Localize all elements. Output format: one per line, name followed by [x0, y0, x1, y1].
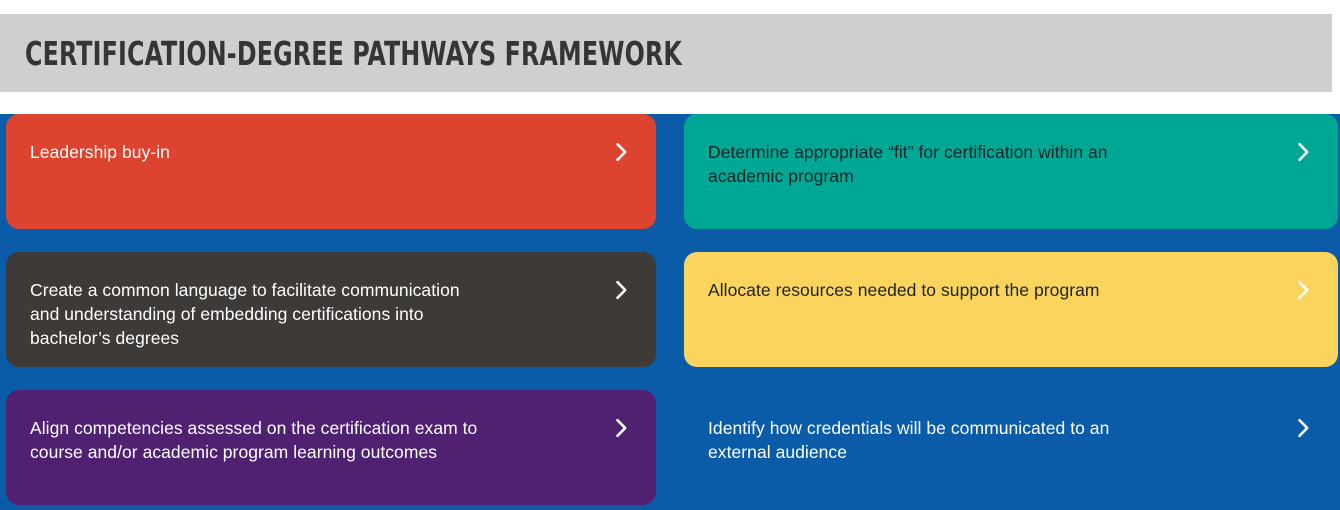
framework-page: Certification-Degree Pathways Framework … [0, 0, 1340, 510]
chevron-right-icon[interactable] [1295, 417, 1312, 439]
chevron-right-icon[interactable] [1295, 279, 1312, 301]
card-content: Align competencies assessed on the certi… [30, 416, 632, 464]
page-title: Certification-Degree Pathways Framework [25, 37, 682, 70]
pathway-card-leadership-buy-in[interactable]: Leadership buy-in [6, 114, 656, 229]
chevron-right-icon[interactable] [613, 141, 630, 163]
card-label: Allocate resources needed to support the… [708, 278, 1268, 302]
pathway-card-align-competencies[interactable]: Align competencies assessed on the certi… [6, 390, 656, 505]
chevron-right-icon[interactable] [1295, 141, 1312, 163]
pathway-card-identify-credentials[interactable]: Identify how credentials will be communi… [684, 390, 1338, 505]
page-header: Certification-Degree Pathways Framework [0, 14, 1332, 92]
card-label: Align competencies assessed on the certi… [30, 416, 590, 464]
chevron-right-icon[interactable] [613, 417, 630, 439]
pathway-card-common-language[interactable]: Create a common language to facilitate c… [6, 252, 656, 367]
pathway-card-grid: Leadership buy-in Determine appropriate … [0, 114, 1340, 510]
card-label: Determine appropriate “fit” for certific… [708, 140, 1268, 188]
card-content: Allocate resources needed to support the… [708, 278, 1314, 302]
card-content: Determine appropriate “fit” for certific… [708, 140, 1314, 188]
chevron-right-icon[interactable] [613, 279, 630, 301]
pathway-card-allocate-resources[interactable]: Allocate resources needed to support the… [684, 252, 1338, 367]
card-content: Create a common language to facilitate c… [30, 278, 632, 350]
card-label: Create a common language to facilitate c… [30, 278, 590, 350]
card-content: Leadership buy-in [30, 140, 632, 164]
card-label: Identify how credentials will be communi… [708, 416, 1268, 464]
pathway-card-determine-fit[interactable]: Determine appropriate “fit” for certific… [684, 114, 1338, 229]
card-content: Identify how credentials will be communi… [708, 416, 1314, 464]
card-label: Leadership buy-in [30, 140, 590, 164]
